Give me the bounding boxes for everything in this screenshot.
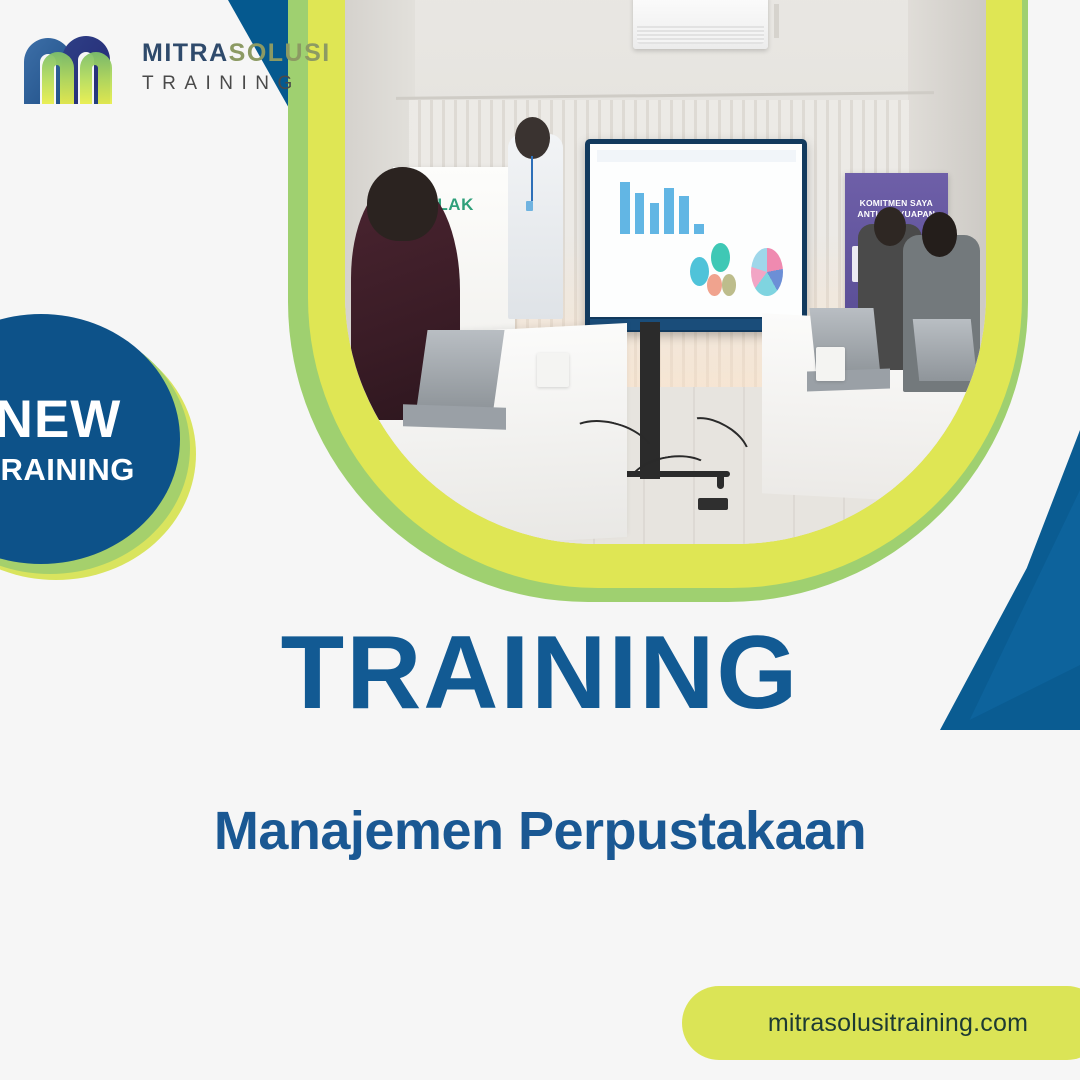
brand-wordmark: MITRASOLUSI TRAINING (142, 41, 331, 93)
page-title: TRAINING (0, 614, 1080, 733)
presenter-head (515, 117, 550, 159)
website-url: mitrasolusitraining.com (768, 1009, 1028, 1038)
tissue-box-left (537, 353, 569, 387)
laptop-left-screen (416, 330, 504, 409)
new-training-badge[interactable]: NEW TRAINING (0, 318, 198, 580)
pie-chart (751, 248, 783, 296)
training-photo: AKHLAK Core Values Amanah ____________ _… (345, 0, 986, 544)
bar-3 (650, 203, 660, 234)
dashboard-toolbar (597, 150, 796, 162)
page-subtitle: Manajemen Perpustakaan (0, 800, 1080, 862)
bar-1 (620, 182, 630, 234)
poster-canvas: AKHLAK Core Values Amanah ____________ _… (0, 0, 1080, 1080)
bubble-2 (711, 243, 730, 272)
bar-2 (635, 193, 645, 234)
bar-5 (679, 196, 689, 234)
brand-name-part1: MITRA (142, 39, 229, 67)
bubble-1 (690, 257, 709, 286)
photo-frame: AKHLAK Core Values Amanah ____________ _… (288, 0, 1028, 602)
photo-scene: AKHLAK Core Values Amanah ____________ _… (345, 0, 986, 544)
laptop-far-right-screen (912, 319, 976, 381)
bar-6 (694, 224, 704, 234)
bubble-3 (707, 274, 722, 296)
participant-right-back-head (874, 207, 906, 246)
power-strip (698, 498, 728, 510)
presentation-display (585, 139, 807, 332)
participant-left-head (367, 167, 438, 240)
tissue-box-right (816, 347, 845, 381)
badge-label-training: TRAINING (0, 454, 135, 485)
brand-logo[interactable]: MITRASOLUSI TRAINING (22, 28, 331, 106)
brand-tagline: TRAINING (142, 74, 331, 93)
bubble-4 (722, 274, 737, 296)
display-stand-wheel-right (717, 471, 724, 489)
mitra-solusi-m-mark-icon (22, 28, 130, 106)
brand-name: MITRASOLUSI (142, 41, 331, 66)
brand-name-part2: SOLUSI (229, 39, 331, 67)
presenter-lanyard (531, 156, 533, 201)
bar-4 (664, 188, 674, 235)
badge-label-new: NEW (0, 393, 121, 446)
website-pill[interactable]: mitrasolusitraining.com (682, 986, 1080, 1060)
presenter-standing (508, 134, 562, 319)
display-screen (590, 144, 802, 317)
air-conditioner-icon (633, 0, 768, 49)
ac-pipe (774, 4, 779, 38)
laptop-left-base (403, 405, 506, 431)
presenter-id-badge (526, 201, 533, 211)
